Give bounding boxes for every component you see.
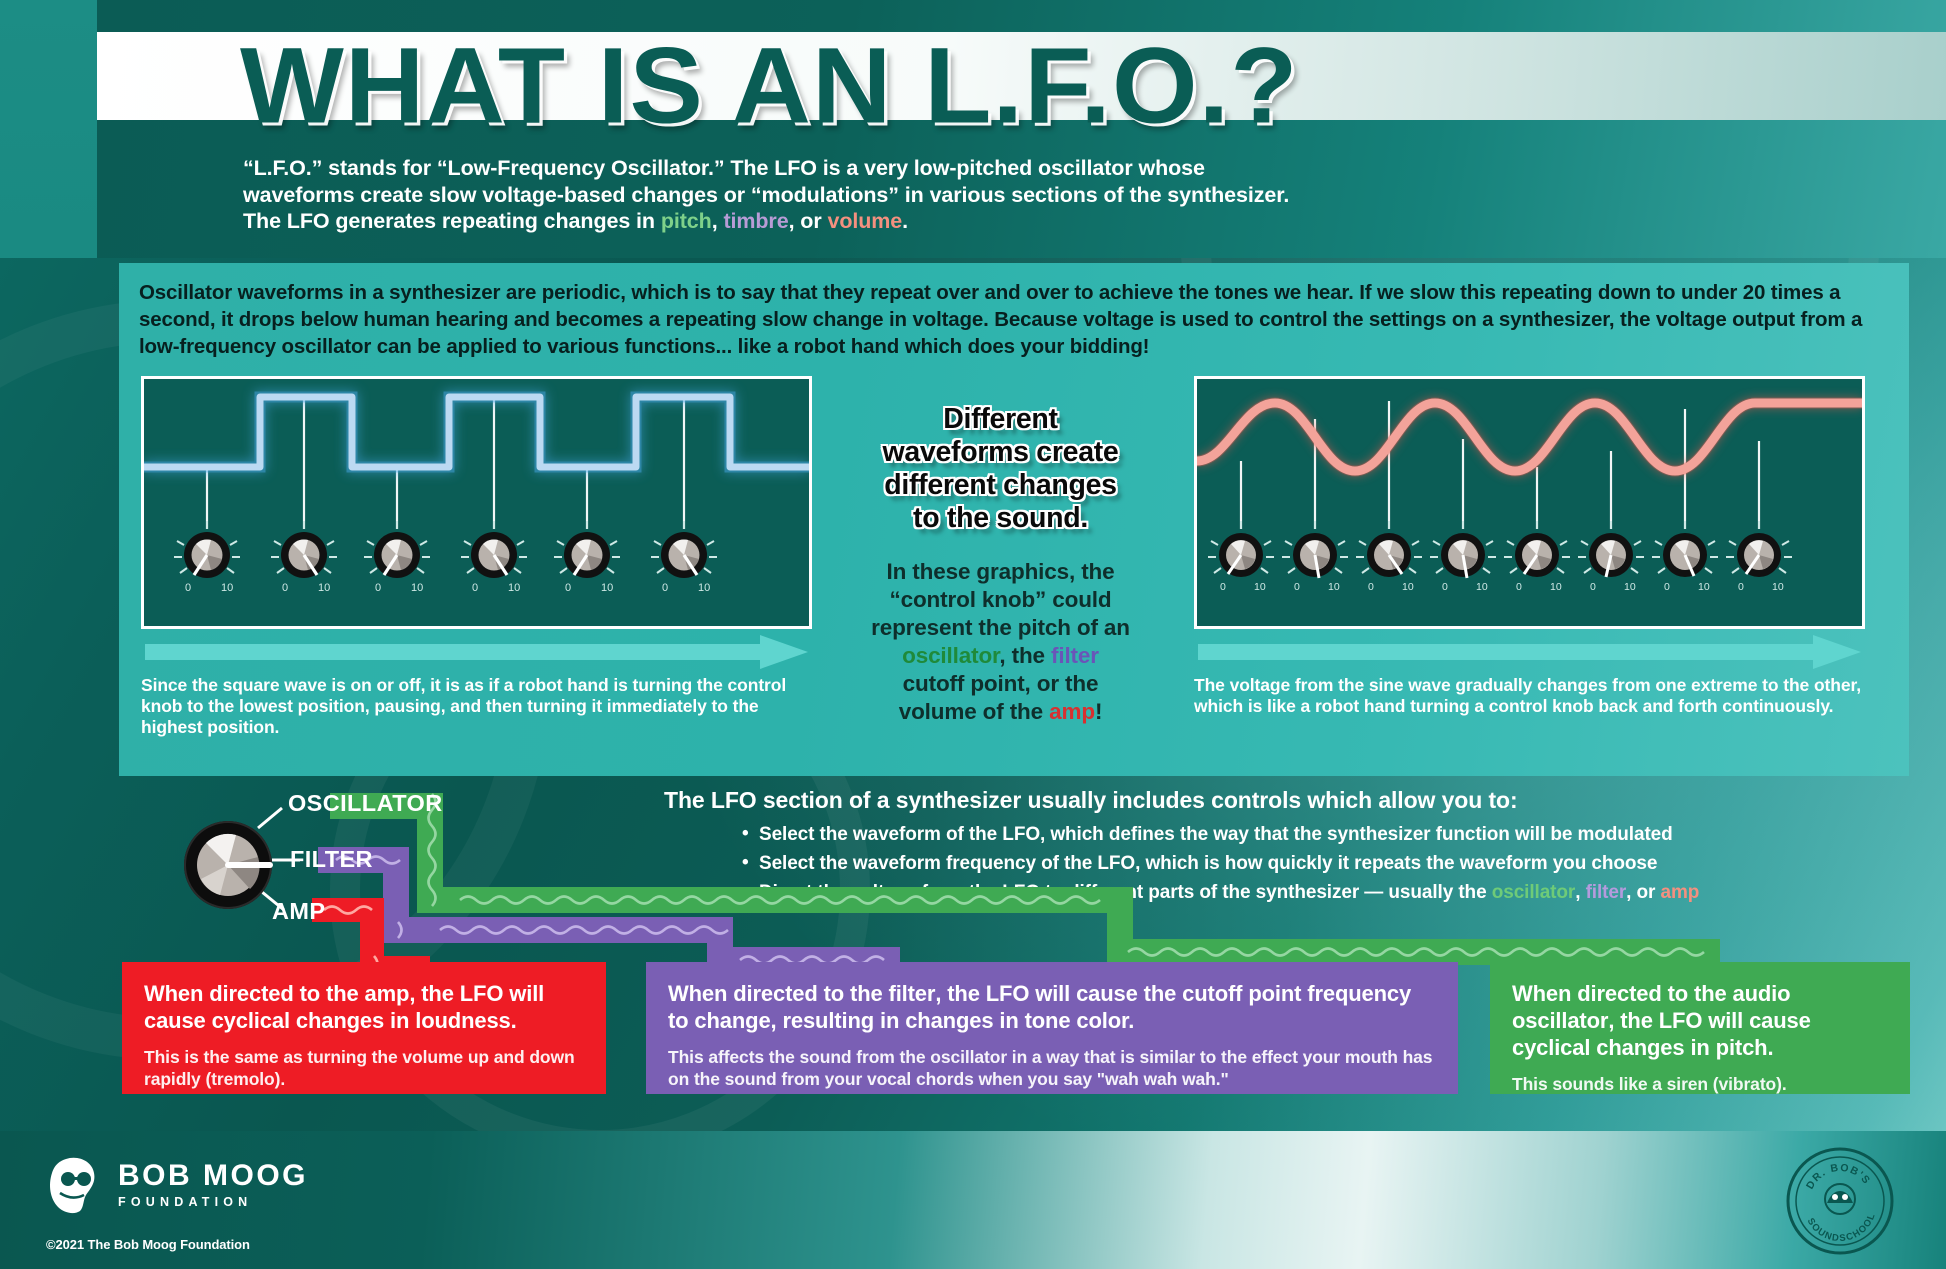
svg-text:0: 0: [662, 582, 668, 594]
rb-fil-keyword: filter: [889, 981, 936, 1006]
svg-text:0: 0: [1516, 581, 1522, 593]
knob: 0 10: [174, 521, 240, 594]
svg-text:0: 0: [472, 582, 478, 594]
svg-text:0: 0: [1738, 581, 1744, 593]
svg-text:0: 0: [1220, 581, 1226, 593]
knob: 0 10: [1208, 521, 1274, 593]
knob: 0 10: [271, 521, 337, 594]
svg-text:0: 0: [1590, 581, 1596, 593]
sine-wave-caption: The voltage from the sine wave gradually…: [1194, 675, 1862, 757]
main-panel: Oscillator waveforms in a synthesizer ar…: [119, 263, 1909, 776]
header-subtitle: “L.F.O.” stands for “Low-Frequency Oscil…: [243, 155, 1543, 235]
rb-fil-pre: When directed to the: [668, 981, 889, 1006]
svg-text:10: 10: [318, 582, 330, 594]
subtitle-line-3-pre: The LFO generates repeating changes in: [243, 209, 661, 233]
square-wave-knob-row: 0 10 0 10: [144, 379, 809, 626]
copyright-text: ©2021 The Bob Moog Foundation: [46, 1237, 250, 1252]
routing-box-amp-title: When directed to the amp, the LFO will c…: [144, 980, 584, 1034]
svg-text:10: 10: [601, 582, 613, 594]
center-body-line-1: In these graphics, the: [886, 559, 1114, 584]
center-heading-line-3: different changes: [884, 469, 1116, 501]
svg-text:10: 10: [221, 582, 233, 594]
header-left-stripe: [0, 0, 97, 258]
center-keyword-filter: filter: [1051, 643, 1099, 668]
svg-text:10: 10: [1698, 581, 1710, 593]
poster-root: WHAT IS AN L.F.O.? “L.F.O.” stands for “…: [0, 0, 1946, 1269]
panel-intro-text: Oscillator waveforms in a synthesizer ar…: [139, 279, 1887, 360]
routing-box-filter-title: When directed to the filter, the LFO wil…: [668, 980, 1436, 1034]
subtitle-sep-1: ,: [712, 209, 724, 233]
keyword-volume: volume: [827, 209, 902, 233]
rb-osc-pre: When directed to the audio: [1512, 981, 1790, 1006]
svg-text:10: 10: [1476, 581, 1488, 593]
dr-bobs-soundschool-seal: DR. BOB'S SOUNDSCHOOL: [1786, 1147, 1894, 1255]
center-body-line-4: cutoff point, or the: [903, 671, 1099, 696]
svg-text:0: 0: [1294, 581, 1300, 593]
svg-text:10: 10: [1772, 581, 1784, 593]
center-heading: Different waveforms create different cha…: [819, 403, 1182, 535]
routing-box-oscillator: When directed to the audio oscillator, t…: [1490, 962, 1910, 1094]
footer: BOB MOOG FOUNDATION ©2021 The Bob Moog F…: [0, 1131, 1946, 1269]
sine-wave-knob-row: 0 10 0 10: [1197, 379, 1862, 626]
center-heading-line-2: waveforms create: [882, 436, 1118, 468]
svg-text:0: 0: [375, 582, 381, 594]
page-title: WHAT IS AN L.F.O.?: [240, 24, 1299, 148]
knob: 0 10: [1282, 521, 1348, 593]
knob: 0 10: [651, 521, 717, 594]
center-keyword-amp: amp: [1049, 699, 1095, 724]
svg-text:10: 10: [508, 582, 520, 594]
seal-bottom-text: SOUNDSCHOOL: [1805, 1211, 1878, 1244]
svg-text:0: 0: [185, 582, 191, 594]
svg-text:0: 0: [1442, 581, 1448, 593]
knob: 0 10: [1726, 521, 1792, 593]
routing-label-oscillator: OSCILLATOR: [288, 790, 443, 817]
svg-text:SOUNDSCHOOL: SOUNDSCHOOL: [1805, 1211, 1878, 1244]
routing-box-oscillator-title: When directed to the audio oscillator, t…: [1512, 980, 1888, 1061]
center-body-mid-1: , the: [999, 643, 1051, 668]
moog-head-icon: [46, 1153, 104, 1215]
foundation-name: BOB MOOG: [118, 1160, 308, 1192]
svg-text:0: 0: [1368, 581, 1374, 593]
rb-amp-keyword: amp: [365, 981, 410, 1006]
center-heading-line-4: to the sound.: [913, 502, 1088, 534]
center-body-line-5-end: !: [1095, 699, 1102, 724]
routing-label-filter: FILTER: [290, 846, 373, 873]
svg-text:10: 10: [1550, 581, 1562, 593]
square-wave-diagram: 0 10 0 10: [141, 376, 812, 629]
foundation-subtitle: FOUNDATION: [118, 1195, 308, 1209]
knob: 0 10: [1430, 521, 1496, 593]
svg-text:0: 0: [565, 582, 571, 594]
routing-label-amp: AMP: [272, 898, 325, 925]
left-time-arrow-icon: [145, 635, 808, 669]
routing-box-amp-sub: This is the same as turning the volume u…: [144, 1046, 584, 1090]
knob: 0 10: [1504, 521, 1570, 593]
center-body-text: In these graphics, the “control knob” co…: [819, 558, 1182, 726]
svg-text:10: 10: [1328, 581, 1340, 593]
rb-amp-pre: When directed to the: [144, 981, 365, 1006]
keyword-pitch: pitch: [661, 209, 712, 233]
subtitle-line-1: “L.F.O.” stands for “Low-Frequency Oscil…: [243, 156, 1205, 180]
right-time-arrow-icon: [1198, 635, 1861, 669]
knob: 0 10: [364, 521, 430, 594]
center-body-line-3: represent the pitch of an: [871, 615, 1130, 640]
knob: 0 10: [1578, 521, 1644, 593]
svg-text:10: 10: [1254, 581, 1266, 593]
subtitle-end: .: [902, 209, 908, 233]
routing-control-knob[interactable]: [168, 805, 288, 925]
center-keyword-oscillator: oscillator: [902, 643, 999, 668]
knob: 0 10: [1652, 521, 1718, 593]
svg-text:10: 10: [1402, 581, 1414, 593]
center-body-line-2: “control knob” could: [890, 587, 1112, 612]
svg-text:10: 10: [698, 582, 710, 594]
routing-box-filter: When directed to the filter, the LFO wil…: [646, 962, 1458, 1094]
subtitle-line-2: waveforms create slow voltage-based chan…: [243, 183, 1289, 207]
foundation-logo: BOB MOOG FOUNDATION: [46, 1153, 308, 1215]
sine-wave-diagram: 0 10 0 10: [1194, 376, 1865, 629]
svg-text:10: 10: [411, 582, 423, 594]
center-body-line-5-pre: volume of the: [899, 699, 1049, 724]
keyword-timbre: timbre: [723, 209, 788, 233]
routing-box-filter-sub: This affects the sound from the oscillat…: [668, 1046, 1436, 1090]
svg-text:0: 0: [1664, 581, 1670, 593]
rb-osc-keyword: oscillator: [1512, 1008, 1608, 1033]
svg-text:10: 10: [1624, 581, 1636, 593]
square-wave-caption: Since the square wave is on or off, it i…: [141, 675, 809, 757]
knob: 0 10: [1356, 521, 1422, 593]
center-heading-line-1: Different: [943, 403, 1057, 435]
knob: 0 10: [461, 521, 527, 594]
svg-text:0: 0: [282, 582, 288, 594]
routing-box-amp: When directed to the amp, the LFO will c…: [122, 962, 606, 1094]
knob: 0 10: [554, 521, 620, 594]
routing-box-oscillator-sub: This sounds like a siren (vibrato).: [1512, 1073, 1888, 1095]
subtitle-sep-2: , or: [789, 209, 828, 233]
